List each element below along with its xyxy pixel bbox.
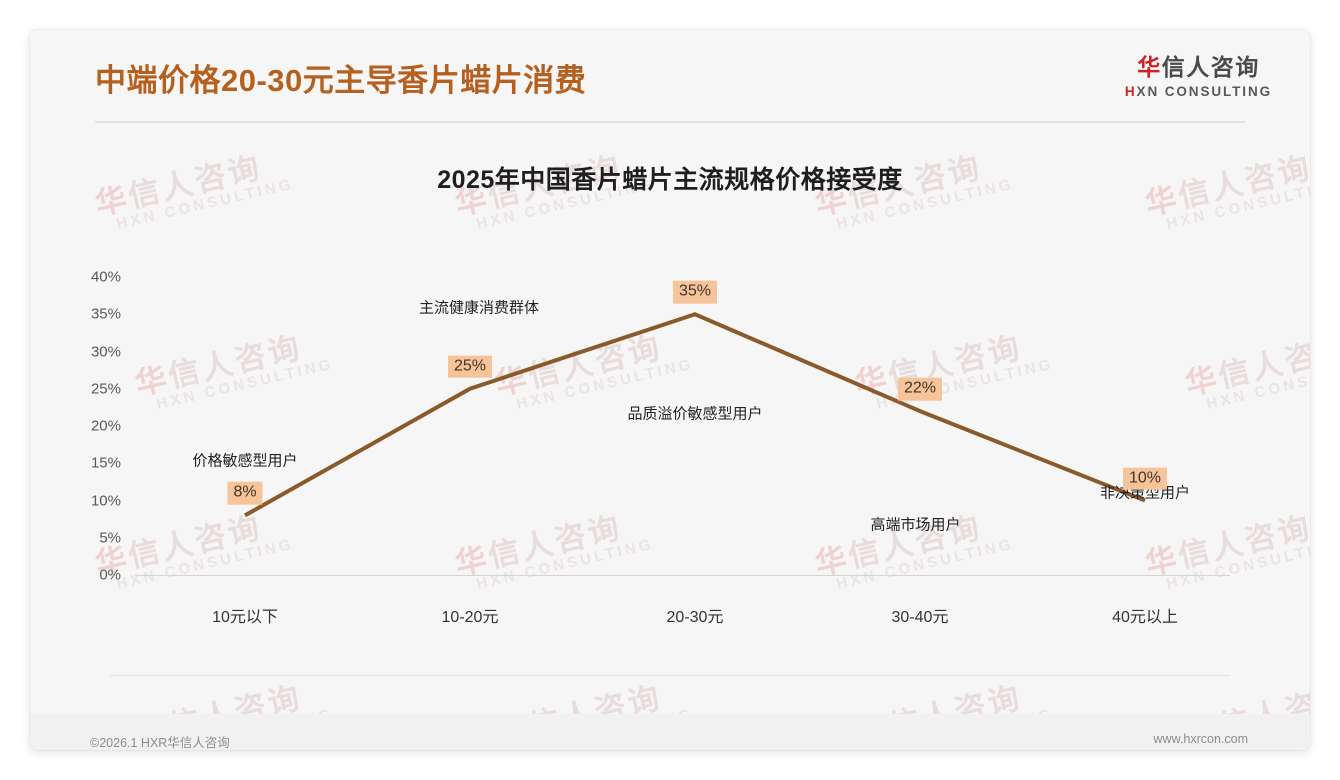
data-point-label: 25%: [448, 355, 492, 378]
chart-annotation: 高端市场用户: [870, 514, 960, 535]
y-axis-tick-label: 0%: [75, 567, 121, 584]
logo-en-rest: XN CONSULTING: [1137, 84, 1272, 99]
data-point-label: 10%: [1123, 467, 1167, 490]
logo-en-red: H: [1125, 84, 1137, 99]
footer-website: www.hxrcon.com: [1154, 732, 1248, 746]
data-point-label: 35%: [673, 281, 717, 304]
data-point-label: 8%: [227, 482, 262, 505]
y-axis-tick-label: 20%: [75, 418, 121, 435]
y-axis-tick-label: 10%: [75, 492, 121, 509]
x-axis-line: [135, 575, 1230, 576]
y-axis-tick-label: 25%: [75, 380, 121, 397]
footnote-divider: [110, 675, 1230, 676]
x-axis-tick-label: 20-30元: [610, 603, 780, 627]
logo-cn-red: 华: [1137, 54, 1162, 80]
x-axis-tick-label: 30-40元: [835, 603, 1005, 627]
footer-copyright: ©2026.1 HXR华信人咨询: [90, 732, 230, 750]
y-axis-tick-label: 35%: [75, 306, 121, 323]
y-axis-tick-label: 5%: [75, 529, 121, 546]
logo-cn-rest: 信人咨询: [1162, 54, 1260, 80]
slide-card: 华信人咨询HXN CONSULTING华信人咨询HXN CONSULTING华信…: [30, 30, 1310, 750]
x-axis-tick-label: 10-20元: [385, 603, 555, 627]
chart-annotation: 价格敏感型用户: [192, 449, 297, 470]
logo-english: HXN CONSULTING: [1125, 84, 1272, 99]
slide-header: 中端价格20-30元主导香片蜡片消费 华信人咨询 HXN CONSULTING: [30, 30, 1310, 122]
data-point-label: 22%: [898, 378, 942, 401]
chart-plot-area: 0%5%10%15%20%25%30%35%40%10元以下10-20元20-3…: [30, 30, 1310, 750]
line-series-svg: [30, 30, 1310, 750]
y-axis-tick-label: 15%: [75, 455, 121, 472]
y-axis-tick-label: 40%: [75, 269, 121, 286]
header-divider: [95, 121, 1245, 123]
page-title: 中端价格20-30元主导香片蜡片消费: [95, 55, 586, 100]
brand-logo: 华信人咨询 HXN CONSULTING: [1125, 48, 1272, 99]
y-axis-tick-label: 30%: [75, 343, 121, 360]
x-axis-tick-label: 10元以下: [160, 603, 330, 627]
logo-chinese: 华信人咨询: [1125, 48, 1272, 82]
chart-annotation: 品质溢价敏感型用户: [627, 402, 762, 423]
x-axis-tick-label: 40元以上: [1060, 603, 1230, 627]
chart-title: 2025年中国香片蜡片主流规格价格接受度: [30, 160, 1310, 196]
chart-annotation: 主流健康消费群体: [419, 296, 539, 317]
